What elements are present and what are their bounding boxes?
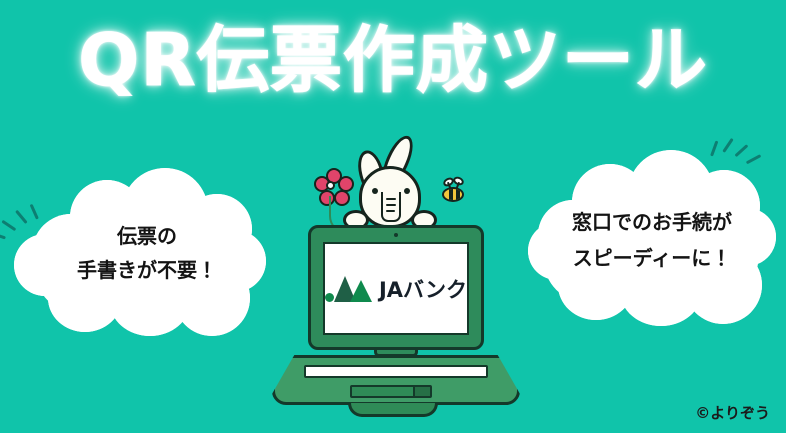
- speech-bubble-right: 窓口でのお手続が スピーディーに！: [528, 150, 776, 326]
- flower-center: [326, 181, 335, 190]
- bubble-right-line-2: スピーディーに！: [573, 240, 732, 276]
- laptop-screen: JAバンク: [323, 242, 469, 335]
- bubble-left-line-2: 手書きが不要！: [77, 253, 217, 287]
- bubble-left-line-1: 伝票の: [117, 219, 177, 253]
- mascot-character: [335, 136, 455, 236]
- ja-logo-mark: [325, 276, 373, 302]
- page-title: QR伝票作成ツール: [0, 18, 786, 102]
- promo-banner: QR伝票作成ツール 伝票の 手書きが不要！: [0, 0, 786, 433]
- copyright-credit: ©よりぞう: [695, 402, 770, 423]
- bubble-right-line-1: 窓口でのお手続が: [572, 204, 732, 240]
- mascot-eye-right: [404, 188, 410, 194]
- bubble-right-text: 窓口でのお手続が スピーディーに！: [528, 150, 776, 326]
- bubble-left-text: 伝票の 手書きが不要！: [14, 168, 266, 336]
- webcam-icon: [394, 233, 398, 237]
- speech-bubble-left: 伝票の 手書きが不要！: [14, 168, 266, 336]
- mascot-eye-left: [372, 188, 378, 194]
- laptop-keyboard: [304, 365, 488, 378]
- ja-logo-text: JAバンク: [379, 274, 467, 304]
- mascot-snout: [381, 192, 401, 222]
- laptop-trackpad: [350, 385, 432, 398]
- trackpad-button: [413, 387, 430, 396]
- laptop-illustration: JAバンク: [272, 225, 520, 415]
- ja-bank-logo: JAバンク: [325, 274, 467, 304]
- laptop-lid: JAバンク: [308, 225, 484, 350]
- laptop-foot: [348, 403, 438, 417]
